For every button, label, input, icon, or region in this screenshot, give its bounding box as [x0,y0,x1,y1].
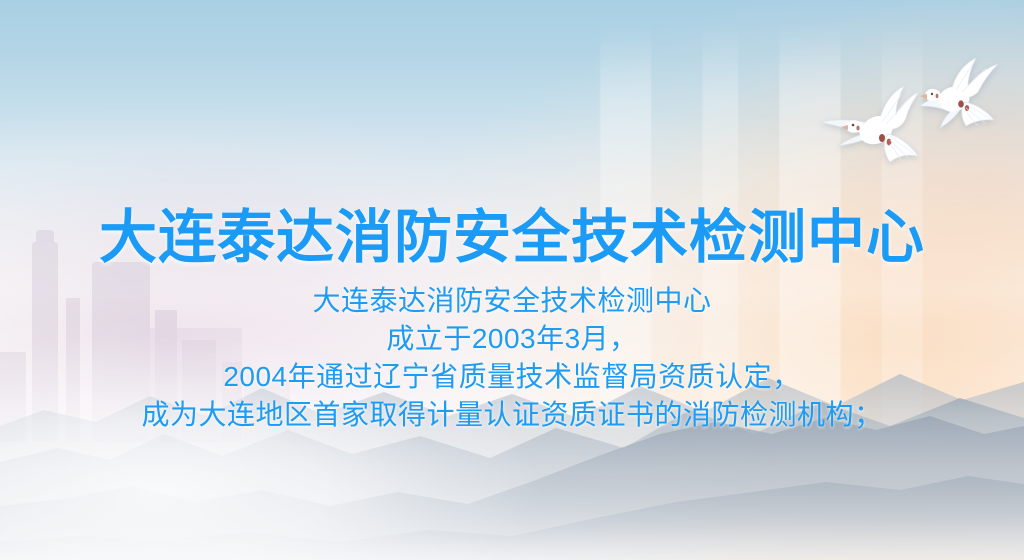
banner-content: 大连泰达消防安全技术检测中心 大连泰达消防安全技术检测中心 成立于2003年3月… [0,0,1024,560]
page-title: 大连泰达消防安全技术检测中心 [0,207,1024,269]
description-line-3: 2004年通过辽宁省质量技术监督局资质认定， [0,358,1024,396]
description-block: 大连泰达消防安全技术检测中心 成立于2003年3月， 2004年通过辽宁省质量技… [0,282,1024,434]
description-line-2: 成立于2003年3月， [0,320,1024,358]
description-line-4: 成为大连地区首家取得计量认证资质证书的消防检测机构； [0,396,1024,434]
hero-banner: 大连泰达消防安全技术检测中心 大连泰达消防安全技术检测中心 成立于2003年3月… [0,0,1024,560]
description-line-1: 大连泰达消防安全技术检测中心 [0,282,1024,320]
